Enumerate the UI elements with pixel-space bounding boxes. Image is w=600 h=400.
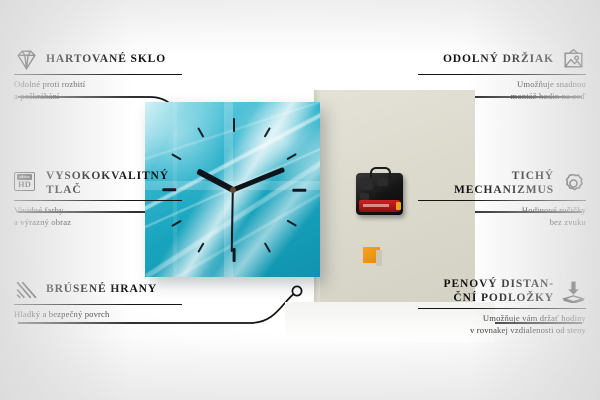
feature-title: HARTOVANÉ SKLO <box>46 53 166 67</box>
divider <box>418 74 586 75</box>
infographic-canvas: HARTOVANÉ SKLO Odolné proti rozbití a po… <box>0 0 600 400</box>
divider <box>418 308 586 309</box>
feature-tempered-glass: HARTOVANÉ SKLO Odolné proti rozbití a po… <box>14 48 182 102</box>
foam-spacer-pad <box>363 247 380 263</box>
feature-durable-hanger: ODOLNÝ DRŽIAK Umožňuje snadnou montáž ho… <box>418 48 586 102</box>
feature-title: BRÚSENÉ HRANY <box>46 283 157 297</box>
picture-frame-hanger-icon <box>561 48 586 71</box>
diagonal-lines-icon <box>14 278 39 301</box>
battery <box>359 200 400 212</box>
feature-desc: Umožňuje snadnou montáž hodin na zeď <box>418 79 586 101</box>
divider <box>14 74 182 75</box>
feature-foam-spacers: PENOVÝ DISTAN- ČNÍ PODLOŽKY Umožňuje vám… <box>418 278 586 336</box>
feature-title: TICHÝ MECHANIZMUS <box>418 170 554 197</box>
feature-title: PENOVÝ DISTAN- ČNÍ PODLOŽKY <box>418 278 554 305</box>
feature-ground-edges: BRÚSENÉ HRANY Hladký a bezpečný povrch <box>14 278 182 321</box>
feature-silent-mechanism: TICHÝ MECHANIZMUS Hodinové ručičky bez z… <box>418 170 586 228</box>
feature-desc: Vividné farby a výrazný obraz <box>14 205 182 227</box>
feature-desc: Umožňuje vám držať hodiny v rovnakej vzd… <box>418 313 586 335</box>
divider <box>14 304 182 305</box>
feature-high-quality-print: ultra HD VYSOKOKVALITNÝ TLAČ Vividné far… <box>14 170 182 228</box>
clock-mechanism <box>356 173 403 215</box>
feature-title: ODOLNÝ DRŽIAK <box>443 53 554 67</box>
ultra-hd-badge-icon: ultra HD <box>14 172 39 195</box>
hd-badge-bottom: HD <box>18 180 31 189</box>
feature-title: VYSOKOKVALITNÝ TLAČ <box>46 170 182 197</box>
feature-desc: Hodinové ručičky bez zvuku <box>418 205 586 227</box>
gear-icon <box>561 172 586 195</box>
clock-center-pin <box>230 187 236 193</box>
diamond-icon <box>14 48 39 71</box>
feature-desc: Odolné proti rozbití a poškrábání <box>14 79 182 101</box>
feature-desc: Hladký a bezpečný povrch <box>14 309 182 320</box>
divider <box>14 200 182 201</box>
arrow-down-pad-icon <box>561 280 586 303</box>
divider <box>418 200 586 201</box>
